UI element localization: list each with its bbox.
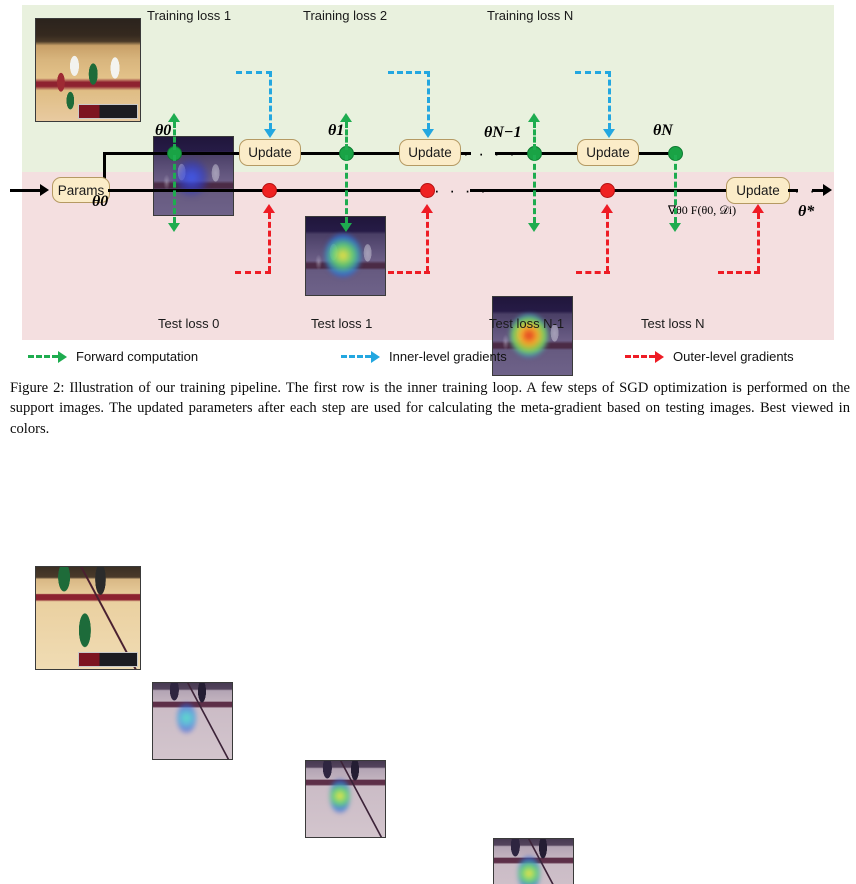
legend-arrowhead-blue (371, 351, 380, 363)
test-loss-n-1-label: Test loss N-1 (489, 316, 564, 331)
forward-arrowhead-train-2 (340, 113, 352, 122)
training-loss-n-label: Training loss N (487, 8, 573, 23)
inner-grad-1-horizontal (236, 71, 272, 74)
outer-grad-n-1-horizontal (576, 271, 610, 274)
figure-caption: Figure 2: Illustration of our training p… (10, 378, 850, 439)
test-image-original (35, 566, 141, 670)
training-heatmap-1 (153, 136, 234, 216)
forward-arrow-test-n (674, 155, 677, 223)
test-heatmap-1 (305, 760, 386, 838)
support-image-original (35, 18, 141, 122)
forward-arrowhead-test-n-1 (528, 223, 540, 232)
outer-node-0 (262, 183, 277, 198)
outer-node-1 (420, 183, 435, 198)
outer-grad-n-1-arrowhead (601, 204, 613, 213)
forward-arrowhead-train-1 (168, 113, 180, 122)
meta-update-box[interactable]: Update (726, 177, 790, 204)
test-heatmap-0 (152, 682, 233, 760)
meta-gradient-formula: ∇θ0 F(θ0, 𝒟i) (668, 203, 736, 218)
inner-update-box-1[interactable]: Update (239, 139, 301, 166)
inner-grad-2-horizontal (388, 71, 430, 74)
outer-grad-n-1-vertical (606, 213, 609, 272)
forward-arrowhead-test-1 (340, 223, 352, 232)
forward-arrowhead-test-0 (168, 223, 180, 232)
legend-item-outer: Outer-level gradients (625, 349, 794, 364)
test-heatmap-n-1 (493, 838, 574, 884)
legend: Forward computation Inner-level gradient… (0, 346, 856, 372)
figure-canvas: Training loss 1 Training loss 2 Training… (0, 0, 856, 442)
test-loss-n-label: Test loss N (641, 316, 705, 331)
theta-star-label: θ* (798, 203, 814, 221)
forward-arrowhead-train-n (528, 113, 540, 122)
inner-update-box-2[interactable]: Update (399, 139, 461, 166)
legend-item-inner: Inner-level gradients (341, 349, 507, 364)
legend-label-outer: Outer-level gradients (673, 349, 794, 364)
forward-arrow-train-2 (345, 122, 348, 150)
inner-grad-2-arrowhead (422, 129, 434, 138)
outer-grad-0-vertical (268, 213, 271, 272)
outer-grad-0-horizontal (235, 271, 271, 274)
forward-arrow-train-n (533, 122, 536, 150)
outer-grad-1-horizontal (388, 271, 430, 274)
test-loss-1-label: Test loss 1 (311, 316, 372, 331)
scorebug-overlay-test (78, 652, 138, 667)
inner-grad-n-vertical (608, 71, 611, 129)
legend-arrowhead-green (58, 351, 67, 363)
outer-node-n-1 (600, 183, 615, 198)
forward-arrowhead-test-n (669, 223, 681, 232)
forward-arrow-test-n-1 (533, 155, 536, 223)
theta-n-1-label: θN−1 (484, 124, 522, 142)
outer-grad-1-vertical (426, 213, 429, 272)
theta-star-arrow (823, 184, 832, 196)
theta-0-bottom-label: θ0 (92, 193, 108, 211)
training-loss-2-label: Training loss 2 (303, 8, 387, 23)
outer-grad-0-arrowhead (263, 204, 275, 213)
outer-grad-n-horizontal (718, 271, 760, 274)
outer-grad-n-vertical (757, 213, 760, 272)
params-inbound-line (10, 189, 42, 192)
theta-0-top-label: θ0 (155, 122, 171, 140)
legend-label-inner: Inner-level gradients (389, 349, 507, 364)
legend-label-forward: Forward computation (76, 349, 198, 364)
inner-grad-1-arrowhead (264, 129, 276, 138)
forward-arrow-test-0 (173, 155, 176, 223)
forward-arrow-test-1 (345, 155, 348, 223)
theta-1-label: θ1 (328, 122, 344, 140)
forward-arrow-train-1 (173, 122, 176, 150)
inner-grad-2-vertical (427, 71, 430, 129)
test-loss-0-label: Test loss 0 (158, 316, 219, 331)
inner-update-box-n[interactable]: Update (577, 139, 639, 166)
legend-dash-green (28, 355, 58, 358)
legend-item-forward: Forward computation (28, 349, 198, 364)
inner-loop-ellipsis: · · · · (463, 145, 517, 162)
inner-grad-n-horizontal (575, 71, 611, 74)
inner-grad-1-vertical (269, 71, 272, 129)
scorebug-overlay (78, 104, 138, 119)
outer-grad-n-arrowhead (752, 204, 764, 213)
legend-arrowhead-red (655, 351, 664, 363)
outer-loop-ellipsis: · · · · (434, 182, 488, 199)
theta-n-label: θN (653, 122, 673, 140)
inner-grad-n-arrowhead (603, 129, 615, 138)
legend-dash-blue (341, 355, 371, 358)
outer-grad-1-arrowhead (421, 204, 433, 213)
theta-star-line (812, 189, 824, 192)
legend-dash-red (625, 355, 655, 358)
outer-loop-line-2 (470, 189, 726, 192)
training-loss-1-label: Training loss 1 (147, 8, 231, 23)
